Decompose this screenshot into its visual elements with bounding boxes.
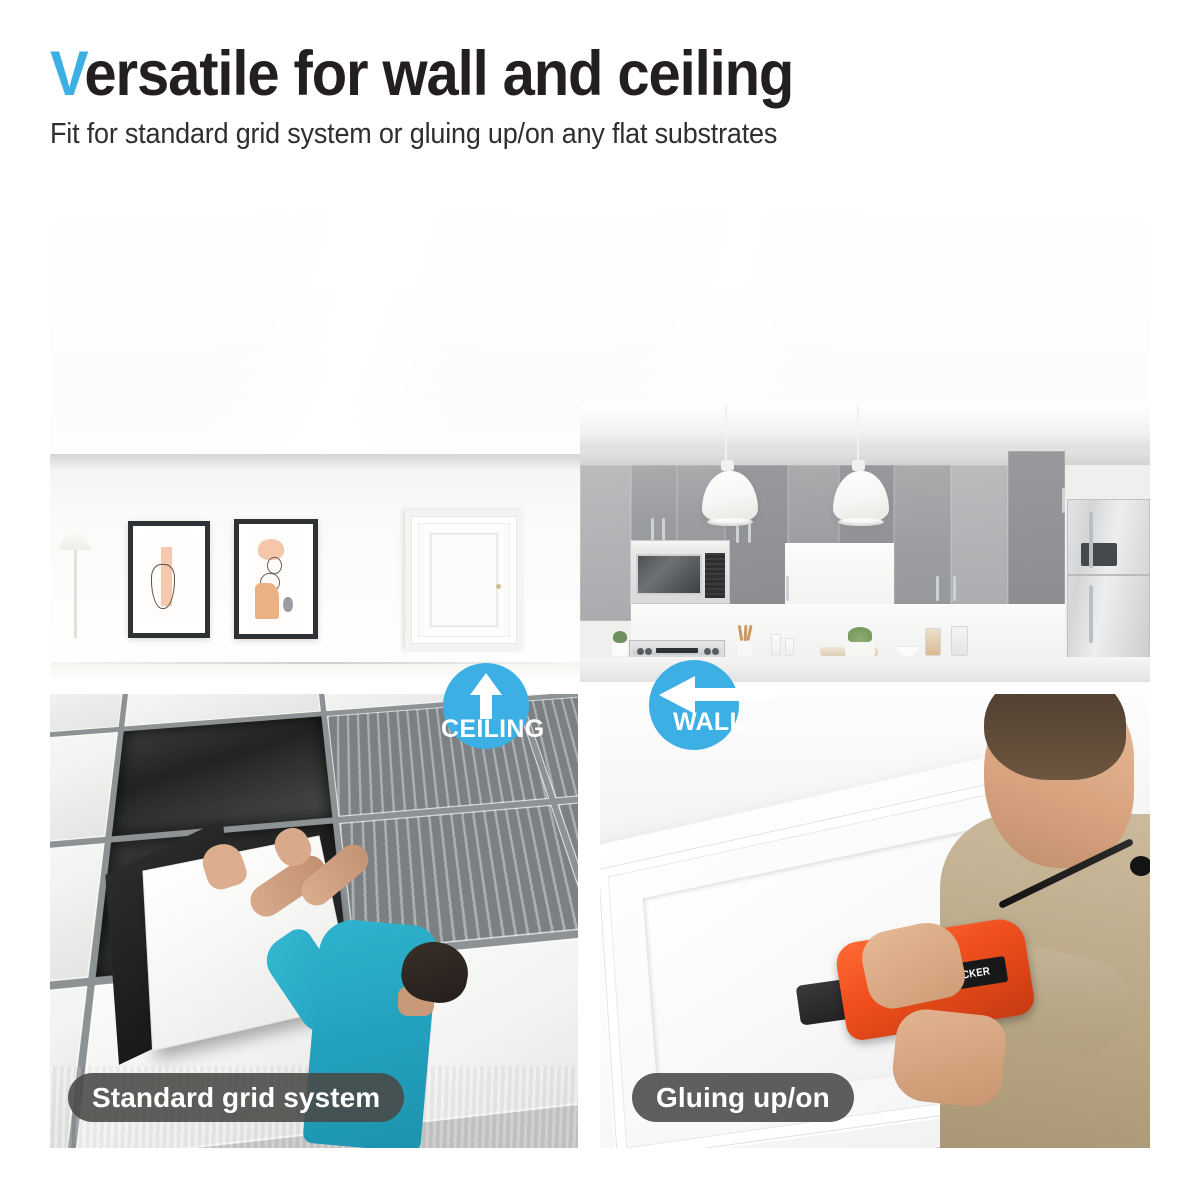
kitchen-soffit: [580, 449, 1150, 466]
microwave-keypad: [705, 553, 725, 598]
kitchen-cabinet-tall-left: [580, 465, 631, 621]
worker-hair: [984, 694, 1126, 780]
fridge-dispenser: [1081, 543, 1117, 565]
caption-gluing-up-on: Gluing up/on: [632, 1073, 854, 1122]
counter-jar-clear: [951, 626, 968, 656]
cabinet-handle-8: [953, 576, 956, 601]
worker-hand-lower: [889, 1007, 1008, 1110]
counter-canister-2: [785, 638, 794, 656]
arrow-up-icon: [470, 673, 502, 719]
fridge-handle-bottom: [1089, 585, 1093, 644]
badge-ceiling: CEILING: [443, 661, 563, 753]
badge-ceiling-label: CEILING: [441, 715, 545, 744]
page-title: Versatile for wall and ceiling: [50, 42, 1062, 106]
interior-door: [405, 510, 523, 650]
wall-top-shadow: [50, 454, 580, 470]
floor-lamp-pole: [74, 542, 77, 638]
kitchen-cabinet-upper-6: [894, 465, 951, 621]
headline-accent-letter: V: [50, 39, 84, 109]
succulent-planter: [845, 640, 875, 656]
framed-artwork-right: [234, 519, 318, 639]
headline-rest: ersatile for wall and ceiling: [84, 39, 793, 109]
kitchen-cabinet-upper-7: [951, 465, 1008, 621]
kitchen-area: [580, 404, 1150, 682]
framed-artwork-left: [128, 521, 210, 638]
fridge-handle-top: [1089, 512, 1093, 567]
artwork-gray-circle: [283, 597, 293, 612]
kitchen-cabinet-upper-8: [1008, 451, 1065, 620]
utensil-holder: [737, 639, 752, 656]
panel-row-separator: [0, 682, 1200, 694]
microwave-door: [636, 554, 702, 595]
caption-standard-grid-system: Standard grid system: [68, 1073, 404, 1122]
cabinet-handle-9: [1062, 488, 1065, 513]
counter-canister-1: [771, 634, 781, 656]
stove-knob-4: [712, 648, 719, 655]
stove-display: [656, 648, 699, 653]
stove-knob-2: [645, 648, 652, 655]
living-room-wall-area: [50, 454, 580, 682]
badge-wall: WALL: [649, 658, 779, 752]
artwork-loop-1: [267, 557, 282, 574]
floor-lamp-shade: [58, 528, 92, 550]
cabinet-handle-7: [936, 576, 939, 601]
fridge-door-split: [1067, 574, 1150, 576]
page-subtitle: Fit for standard grid system or gluing u…: [50, 118, 1073, 151]
hero-photo-room-with-coffered-ceiling: [50, 186, 1150, 682]
microwave: [630, 540, 730, 604]
counter-plant: [612, 641, 628, 656]
cabinet-handle-6: [786, 576, 789, 601]
badge-wall-label: WALL: [673, 708, 745, 737]
header-block: Versatile for wall and ceiling Fit for s…: [50, 42, 1150, 151]
pendant-cord-1: [725, 404, 727, 462]
pendant-neck-2: [852, 460, 865, 471]
artwork-tan-shape: [255, 583, 280, 620]
stove-knob-3: [704, 648, 711, 655]
caulk-gun-plunger-cap: [1130, 856, 1150, 876]
pendant-cord-2: [857, 404, 859, 462]
kitchen-ceiling-band: [580, 404, 1150, 451]
door-knob: [496, 584, 501, 589]
refrigerator: [1067, 499, 1150, 671]
counter-jar-amber: [925, 628, 941, 656]
pendant-neck-1: [721, 460, 734, 471]
